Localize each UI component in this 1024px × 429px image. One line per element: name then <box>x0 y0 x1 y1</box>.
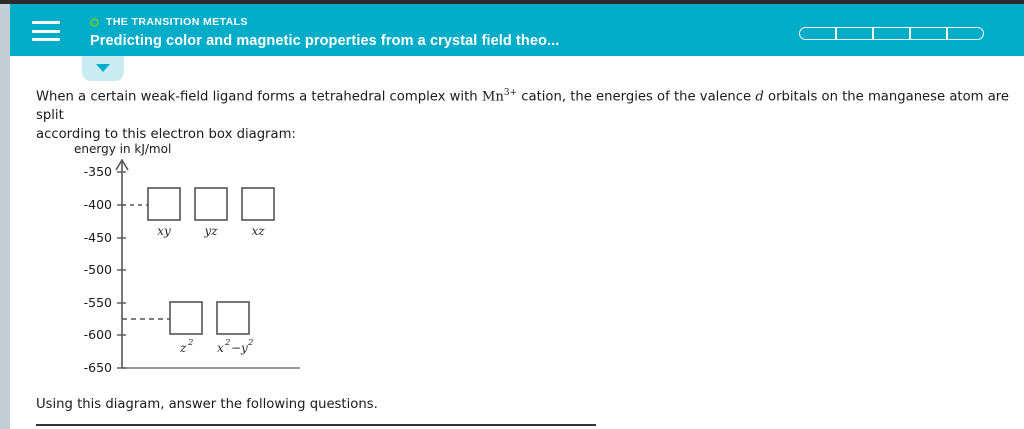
orbital-label-x2y2: x 2 −y 2 <box>217 338 253 355</box>
question-body: When a certain weak-field ligand forms a… <box>36 84 1016 144</box>
header-eyebrow-row: THE TRANSITION METALS <box>90 15 559 29</box>
orbital-label-x2y2-base1: x <box>217 341 224 355</box>
orbital-label-x2y2-exponent1: 2 <box>224 338 230 348</box>
question-text-part-1: When a certain weak-field ligand forms a… <box>36 89 482 104</box>
progress-segment-4[interactable] <box>910 27 947 40</box>
orbital-box-x2y2 <box>217 302 249 334</box>
question-text-part-2: cation, the energies of the valence <box>517 89 755 104</box>
ion-symbol: Mn <box>482 89 504 104</box>
app-header: THE TRANSITION METALS Predicting color a… <box>10 4 1024 56</box>
y-tick-label-2: -450 <box>84 230 112 245</box>
orbital-label-xy: xy <box>157 224 171 238</box>
expand-panel-toggle[interactable] <box>82 56 124 81</box>
progress-segment-1[interactable] <box>799 27 836 40</box>
progress-tracker[interactable] <box>799 27 984 40</box>
y-axis-label: energy in kJ/mol <box>74 142 171 156</box>
progress-segment-3[interactable] <box>873 27 910 40</box>
header-eyebrow-label: THE TRANSITION METALS <box>106 16 248 28</box>
y-tick-labels: -350 -400 -450 -500 -550 -600 -650 <box>84 164 112 375</box>
y-tick-label-4: -550 <box>84 295 112 310</box>
orbital-box-xz <box>242 188 274 220</box>
orbital-label-x2y2-exponent2: 2 <box>247 338 253 348</box>
orbital-box-z2 <box>170 302 202 334</box>
green-circle-icon <box>90 18 99 27</box>
orbital-label-z2-base: z <box>179 341 187 355</box>
instruction-text: Using this diagram, answer the following… <box>36 397 378 412</box>
orbital-label-z2-exponent: 2 <box>187 338 193 348</box>
orbital-label-x2y2-base2: −y <box>231 341 248 355</box>
y-tick-label-5: -600 <box>84 327 112 342</box>
progress-segment-2[interactable] <box>836 27 873 40</box>
y-tick-label-0: -350 <box>84 164 112 179</box>
progress-segment-5[interactable] <box>947 27 984 40</box>
app-window: THE TRANSITION METALS Predicting color a… <box>0 0 1024 429</box>
chevron-down-icon <box>96 64 110 72</box>
y-tick-label-1: -400 <box>84 197 112 212</box>
orbital-box-yz <box>195 188 227 220</box>
electron-box-diagram: energy in kJ/mol -350 -400 -450 -500 -55… <box>60 138 480 398</box>
orbital-label-xz: xz <box>251 224 265 238</box>
hamburger-icon[interactable] <box>32 21 60 41</box>
orbital-label-z2: z 2 <box>179 338 193 355</box>
orbital-letter: d <box>755 89 763 104</box>
upper-level-labels: xy yz xz <box>157 224 265 238</box>
y-tick-label-3: -500 <box>84 262 112 277</box>
question-text: When a certain weak-field ligand forms a… <box>36 84 1016 144</box>
lower-level-boxes <box>170 302 249 334</box>
orbital-label-yz: yz <box>203 224 218 238</box>
header-text-group: THE TRANSITION METALS Predicting color a… <box>90 15 559 49</box>
page-title: Predicting color and magnetic properties… <box>90 33 559 49</box>
upper-level-boxes <box>148 188 274 220</box>
orbital-box-xy <box>148 188 180 220</box>
left-gutter-strip <box>0 4 10 429</box>
ion-charge: 3+ <box>504 88 517 98</box>
section-divider <box>36 424 596 426</box>
y-tick-label-6: -650 <box>84 360 112 375</box>
